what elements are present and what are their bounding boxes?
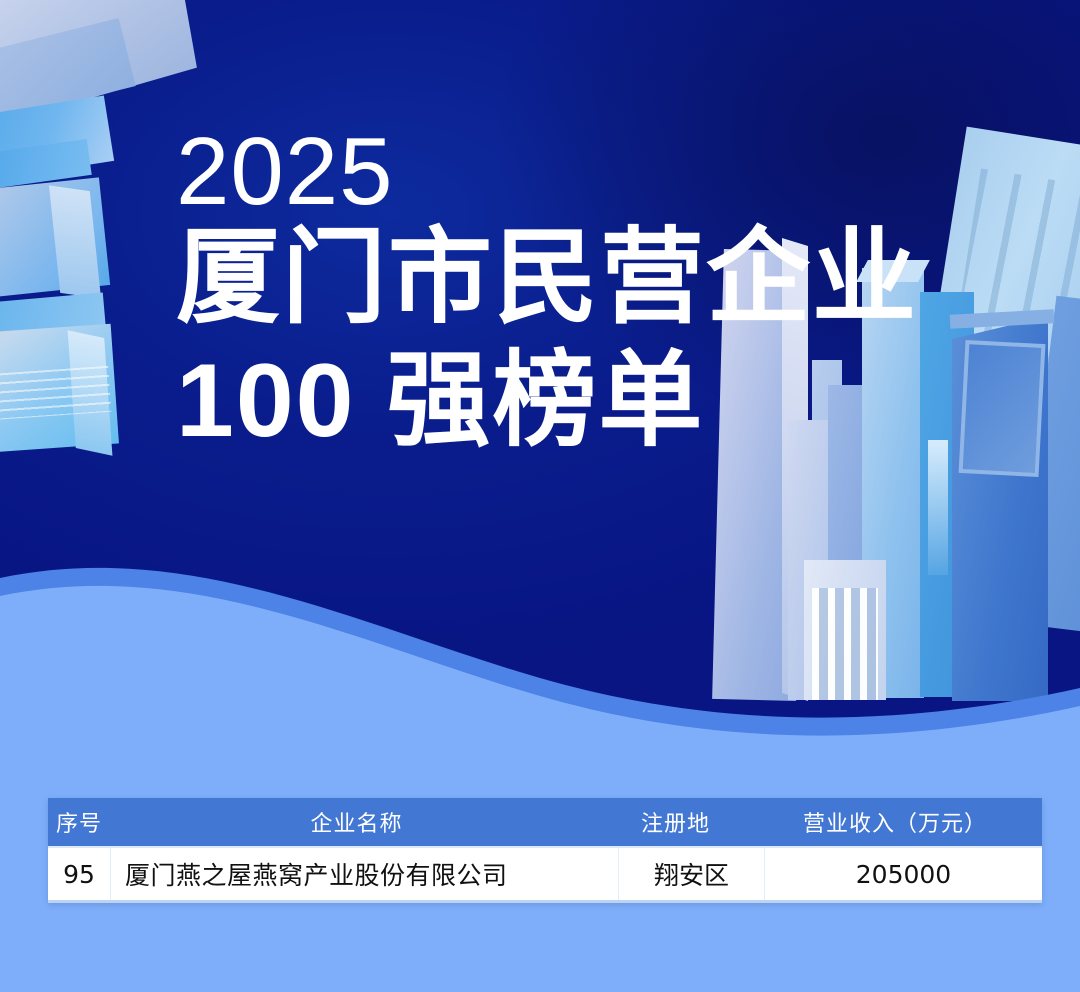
table-row: 95 厦门燕之屋燕窝产业股份有限公司 翔安区 205000 (48, 848, 1042, 903)
wave-divider-low (0, 580, 1080, 760)
table-cell-seq: 95 (48, 848, 111, 900)
title-line-1: 厦门市民营企业 (176, 217, 1006, 340)
ranking-table: 序号 企业名称 注册地 营业收入（万元） 95 厦门燕之屋燕窝产业股份有限公司 … (48, 798, 1042, 903)
table-header-name: 企业名称 (110, 798, 603, 846)
table-cell-name: 厦门燕之屋燕窝产业股份有限公司 (111, 848, 619, 900)
table-header-row: 序号 企业名称 注册地 营业收入（万元） (48, 798, 1042, 846)
poster-title: 2025 厦门市民营企业 100 强榜单 (176, 122, 1006, 462)
left-building-blocks-art (0, 0, 200, 470)
poster-root: 2025 厦门市民营企业 100 强榜单 序号 企业名称 注册地 营业收入（万元… (0, 0, 1080, 992)
table-header-reg: 注册地 (603, 798, 748, 846)
table-cell-reg: 翔安区 (619, 848, 765, 900)
table-header-rev: 营业收入（万元） (748, 798, 1042, 846)
title-line-2: 100 强榜单 (176, 340, 1006, 463)
table-cell-rev: 205000 (765, 848, 1042, 900)
table-header-seq: 序号 (48, 798, 110, 846)
title-year: 2025 (176, 122, 1006, 223)
